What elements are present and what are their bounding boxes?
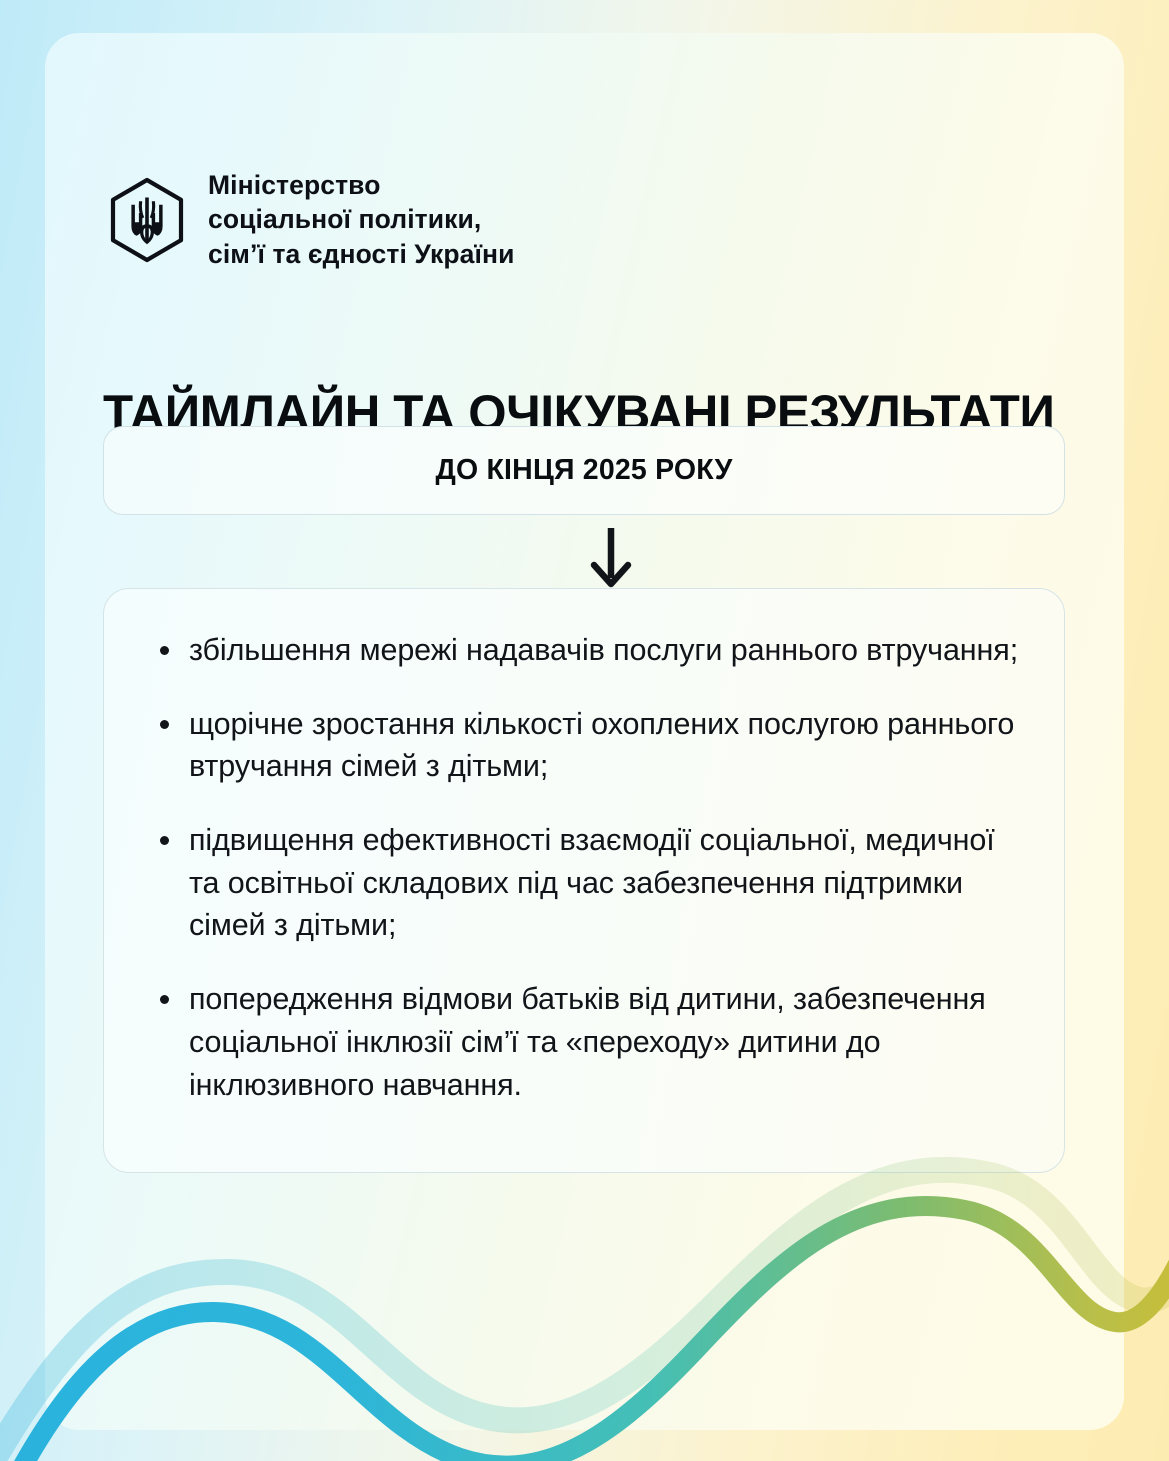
arrow-down-icon	[585, 526, 637, 589]
timeline-period-label: ДО КІНЦЯ 2025 РОКУ	[435, 454, 732, 487]
content-card: Міністерство соціальної політики, сім’ї …	[45, 33, 1124, 1430]
timeline-period-box: ДО КІНЦЯ 2025 РОКУ	[103, 426, 1065, 515]
list-item: щорічне зростання кількості охоплених по…	[148, 703, 1030, 788]
list-item: попередження відмови батьків від дитини,…	[148, 978, 1030, 1106]
outcomes-list: збільшення мережі надавачів послуги ранн…	[148, 629, 1030, 1106]
list-item: підвищення ефективності взаємодії соціал…	[148, 819, 1030, 947]
ministry-logo: Міністерство соціальної політики, сім’ї …	[108, 168, 515, 271]
list-item: збільшення мережі надавачів послуги ранн…	[148, 629, 1030, 672]
slide-canvas: Міністерство соціальної політики, сім’ї …	[0, 0, 1169, 1461]
outcomes-panel: збільшення мережі надавачів послуги ранн…	[103, 588, 1065, 1173]
ukraine-trident-hexagon-icon	[108, 177, 186, 263]
ministry-name: Міністерство соціальної політики, сім’ї …	[208, 168, 515, 271]
